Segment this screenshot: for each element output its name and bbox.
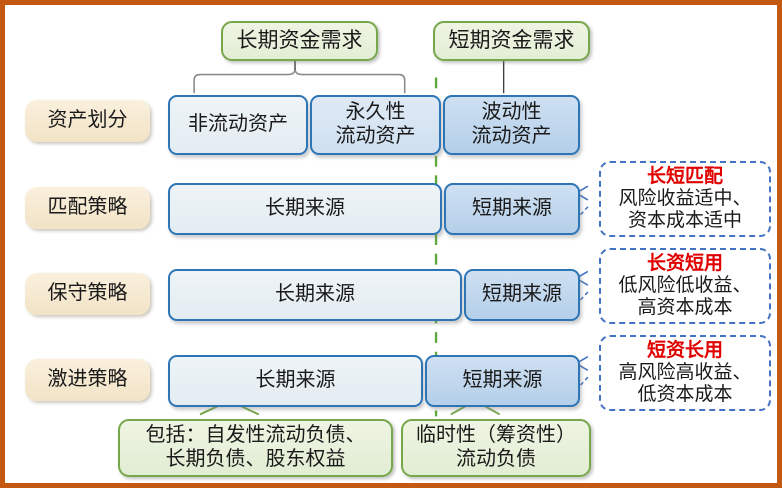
matching-long-source-box[interactable]: 长期来源 bbox=[168, 183, 442, 235]
callout-conservative[interactable]: 长资短用 低风险低收益、 高资本成本 bbox=[599, 248, 771, 324]
connector-overlay bbox=[5, 5, 777, 483]
callout-conservative-title: 长资短用 bbox=[647, 253, 723, 275]
callout-matching-body: 风险收益适中、 资本成本适中 bbox=[618, 188, 751, 233]
row-label-conservative-strategy[interactable]: 保守策略 bbox=[25, 273, 150, 315]
callout-aggressive-body: 高风险高收益、 低资本成本 bbox=[618, 362, 751, 407]
row-label-asset-split[interactable]: 资产划分 bbox=[25, 100, 150, 142]
diagram-canvas: 长期资金需求 短期资金需求 资产划分 匹配策略 保守策略 激进策略 非流动资产 … bbox=[0, 0, 782, 488]
row-label-aggressive-strategy[interactable]: 激进策略 bbox=[25, 359, 150, 401]
callout-matching[interactable]: 长短匹配 风险收益适中、 资本成本适中 bbox=[599, 161, 771, 237]
matching-short-source-box[interactable]: 短期来源 bbox=[444, 183, 580, 235]
asset-box-permanent-current[interactable]: 永久性 流动资产 bbox=[310, 95, 441, 155]
callout-aggressive[interactable]: 短资长用 高风险高收益、 低资本成本 bbox=[599, 335, 771, 411]
conservative-long-source-box[interactable]: 长期来源 bbox=[168, 269, 462, 321]
aggressive-long-source-box[interactable]: 长期来源 bbox=[168, 355, 423, 407]
asset-box-noncurrent[interactable]: 非流动资产 bbox=[168, 95, 308, 155]
note-short-term-sources[interactable]: 临时性（筹资性） 流动负债 bbox=[401, 419, 591, 477]
callout-conservative-body: 低风险低收益、 高资本成本 bbox=[618, 275, 751, 320]
callout-matching-title: 长短匹配 bbox=[647, 166, 723, 188]
demand-short-term[interactable]: 短期资金需求 bbox=[433, 21, 590, 61]
callout-aggressive-title: 短资长用 bbox=[647, 340, 723, 362]
note-long-term-sources[interactable]: 包括：自发性流动负债、 长期负债、股东权益 bbox=[118, 419, 393, 477]
row-label-matching-strategy[interactable]: 匹配策略 bbox=[25, 187, 150, 229]
aggressive-short-source-box[interactable]: 短期来源 bbox=[425, 355, 580, 407]
demand-long-term[interactable]: 长期资金需求 bbox=[221, 21, 378, 61]
asset-box-fluctuating-current[interactable]: 波动性 流动资产 bbox=[443, 95, 580, 155]
conservative-short-source-box[interactable]: 短期来源 bbox=[464, 269, 580, 321]
